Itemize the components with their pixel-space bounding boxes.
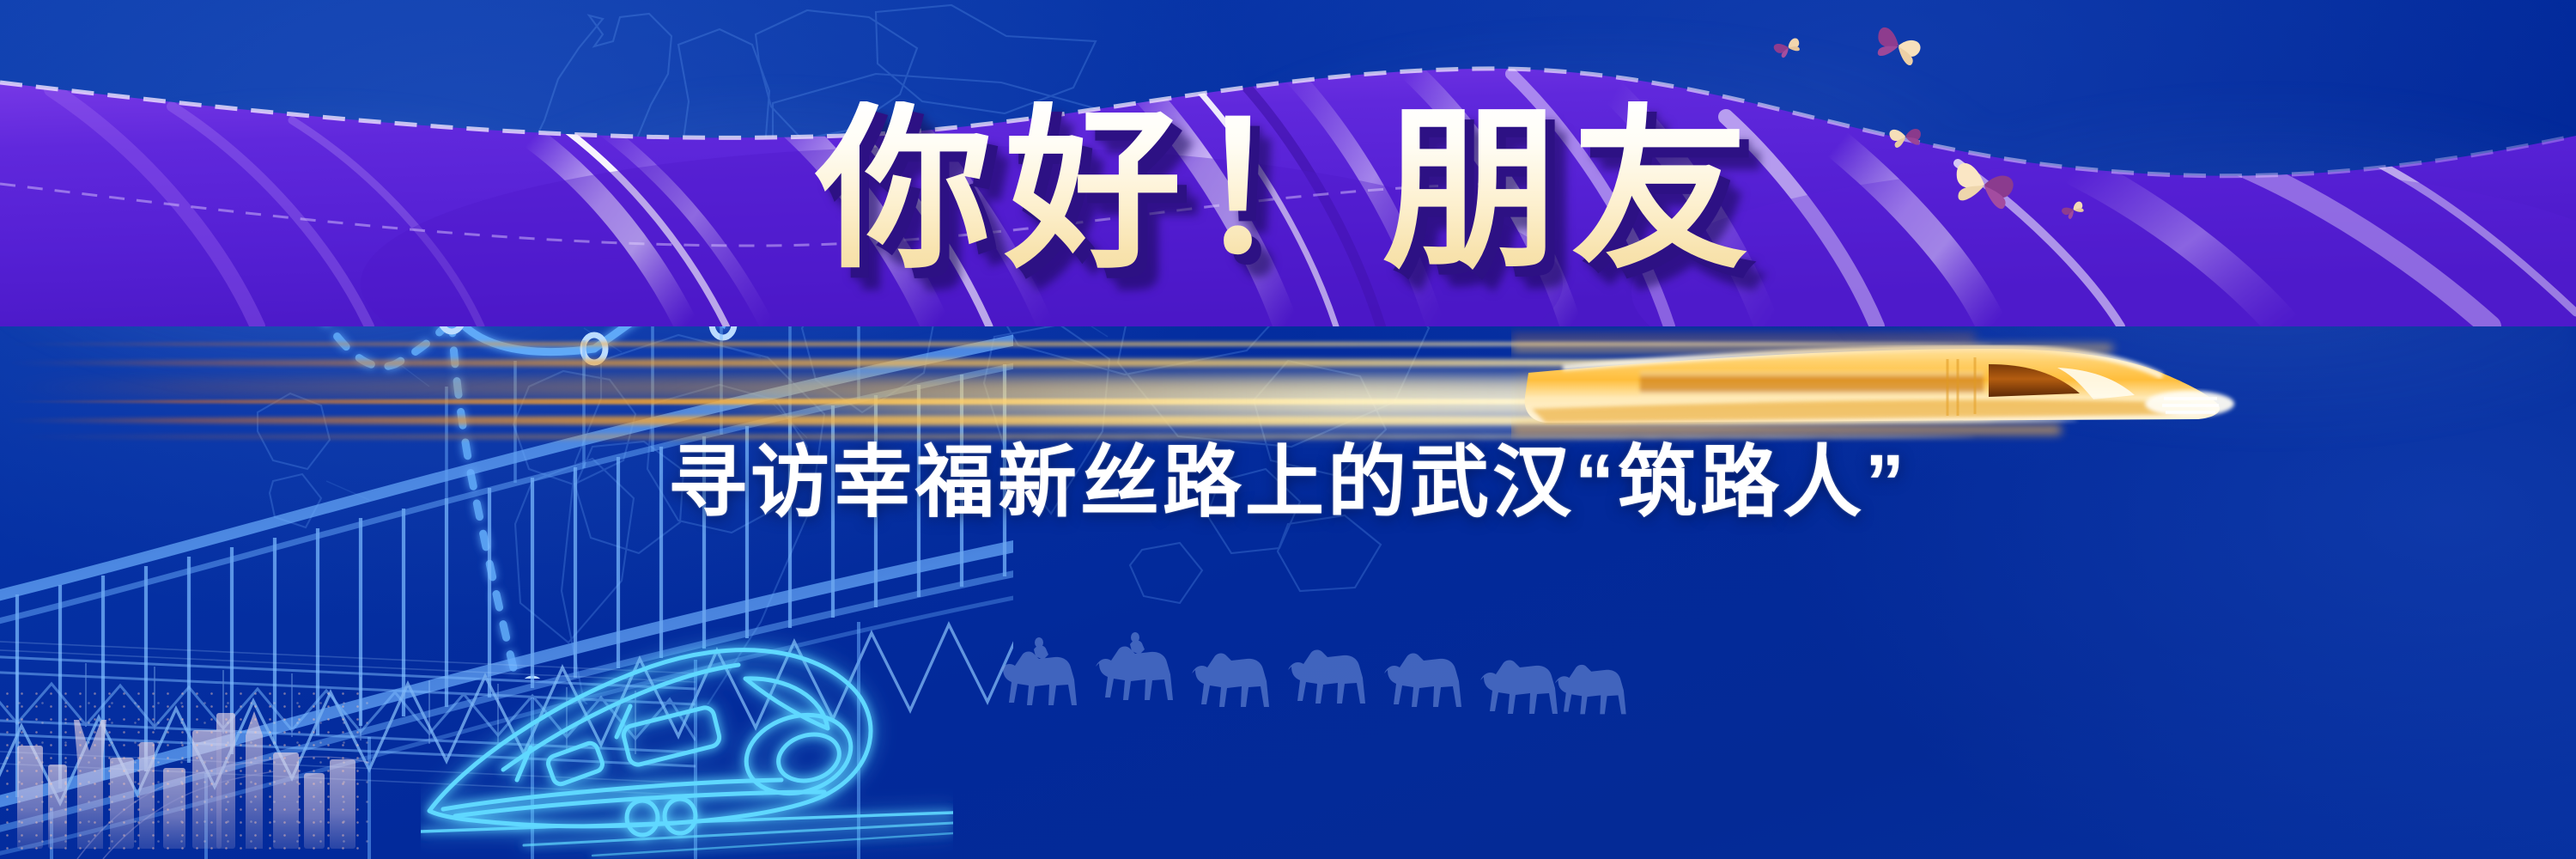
- city-light-sparkle: [0, 687, 369, 859]
- steel-truss-bridge-icon: [0, 637, 696, 801]
- suspension-bridge-icon: [0, 258, 1013, 859]
- page-subtitle: 寻访幸福新丝路上的武汉“筑路人”: [0, 442, 2576, 525]
- flying-butterfly-icon: [1865, 12, 1932, 79]
- page-title: 你好！朋友: [0, 101, 2576, 278]
- city-skyline-icon: [0, 679, 369, 859]
- camel-caravan-icon: [987, 624, 1674, 718]
- neon-outline-train-icon: [421, 627, 953, 859]
- flying-butterfly-icon: [1766, 25, 1809, 68]
- banner-root: 你好！朋友 寻访幸福新丝路上的武汉“筑路人”: [0, 0, 2576, 859]
